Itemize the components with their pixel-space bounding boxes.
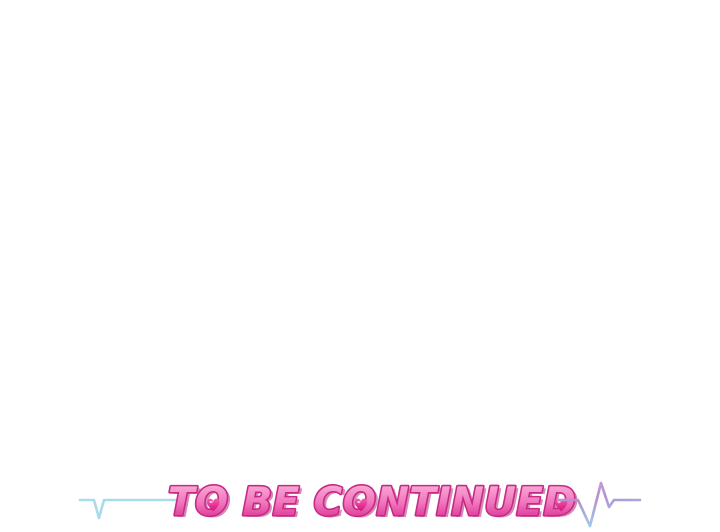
- headline-svg: TO BE CONTINUED TO BE CONTINUED TO BE CO…: [168, 474, 560, 528]
- to-be-continued-card: TO BE CONTINUED TO BE CONTINUED TO BE CO…: [0, 0, 720, 528]
- ecg-left-line: [78, 480, 178, 526]
- ecg-left-path: [80, 500, 176, 518]
- ecg-right-path: [558, 483, 640, 526]
- headline-text: TO BE CONTINUED: [168, 480, 576, 525]
- banner-row: TO BE CONTINUED TO BE CONTINUED TO BE CO…: [0, 236, 720, 298]
- ecg-right-pulse: [556, 476, 642, 532]
- headline-container: TO BE CONTINUED TO BE CONTINUED TO BE CO…: [168, 474, 560, 528]
